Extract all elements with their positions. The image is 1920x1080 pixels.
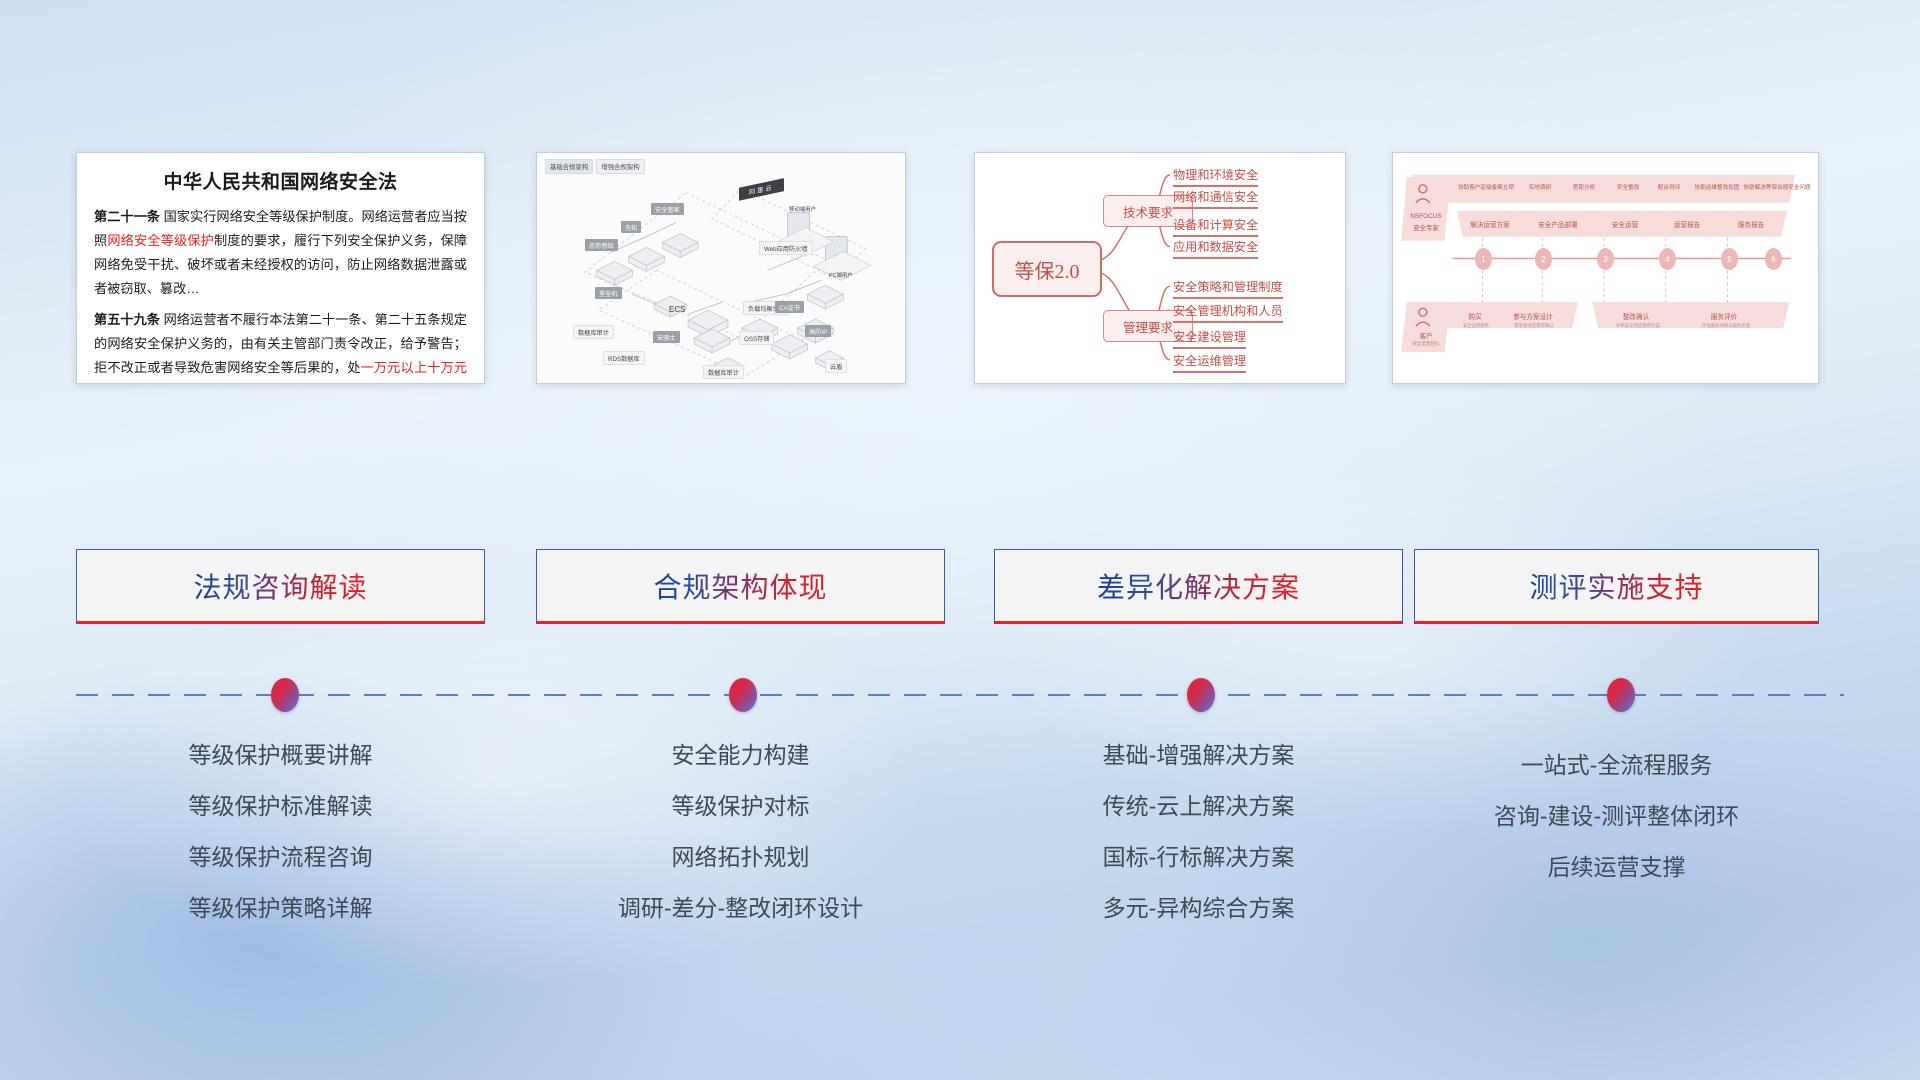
list-item: 等级保护概要讲解 xyxy=(76,744,485,767)
list-item: 等级保护标准解读 xyxy=(76,795,485,818)
list-item: 安全能力构建 xyxy=(536,744,945,767)
list-item: 多元-异构综合方案 xyxy=(994,897,1403,920)
bullet-columns: 等级保护概要讲解 等级保护标准解读 等级保护流程咨询 等级保护策略详解 安全能力… xyxy=(0,0,1920,1080)
list-item: 网络拓扑规划 xyxy=(536,846,945,869)
list-item: 等级保护流程咨询 xyxy=(76,846,485,869)
bullet-column-1: 等级保护概要讲解 等级保护标准解读 等级保护流程咨询 等级保护策略详解 xyxy=(76,744,485,948)
list-item: 咨询-建设-测评整体闭环 xyxy=(1414,805,1819,828)
list-item: 调研-差分-整改闭环设计 xyxy=(536,897,945,920)
list-item: 基础-增强解决方案 xyxy=(994,744,1403,767)
list-item: 等级保护策略详解 xyxy=(76,897,485,920)
list-item: 后续运营支撑 xyxy=(1414,856,1819,879)
slide-stage: 中华人民共和国网络安全法 第二十一条 国家实行网络安全等级保护制度。网络运营者应… xyxy=(0,0,1920,1080)
list-item: 国标-行标解决方案 xyxy=(994,846,1403,869)
list-item: 等级保护对标 xyxy=(536,795,945,818)
bullet-column-2: 安全能力构建 等级保护对标 网络拓扑规划 调研-差分-整改闭环设计 xyxy=(536,744,945,948)
bullet-column-3: 基础-增强解决方案 传统-云上解决方案 国标-行标解决方案 多元-异构综合方案 xyxy=(994,744,1403,948)
bullet-column-4: 一站式-全流程服务 咨询-建设-测评整体闭环 后续运营支撑 xyxy=(1414,744,1819,907)
list-item: 传统-云上解决方案 xyxy=(994,795,1403,818)
list-item: 一站式-全流程服务 xyxy=(1414,754,1819,777)
